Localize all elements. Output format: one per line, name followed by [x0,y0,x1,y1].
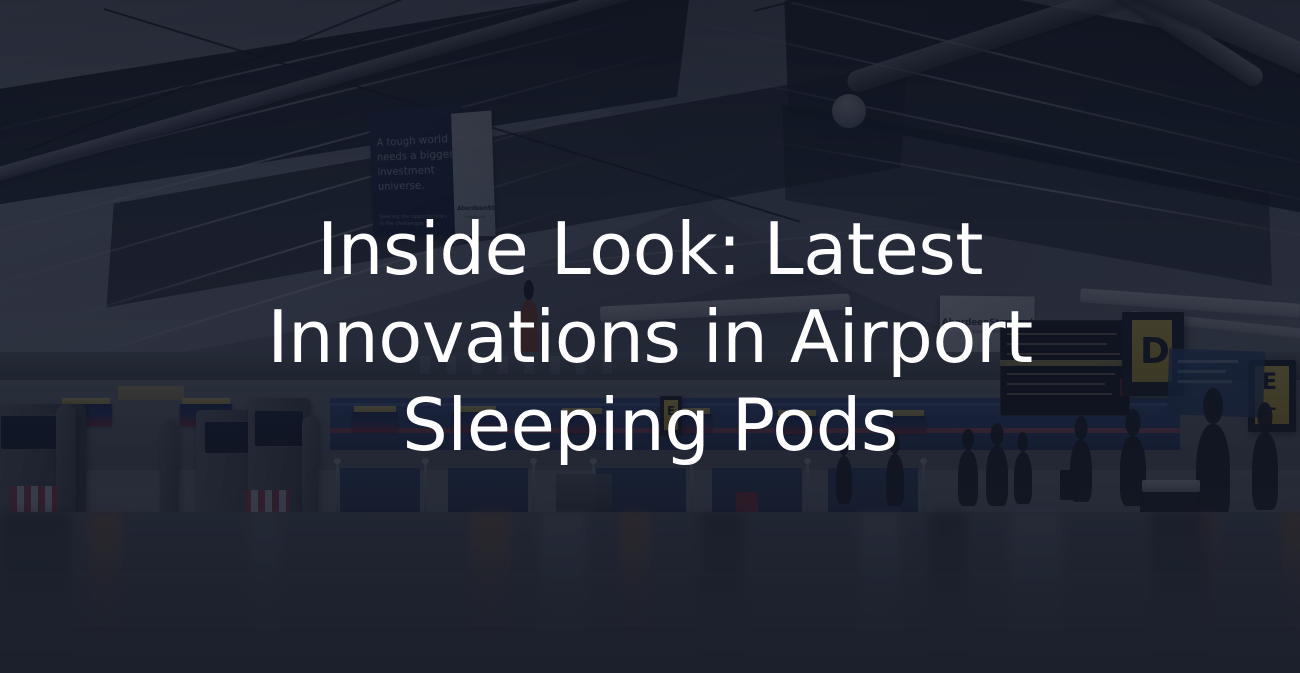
page-title: Inside Look: Latest Innovations in Airpo… [267,205,1033,469]
hero-title-container: Inside Look: Latest Innovations in Airpo… [0,0,1300,673]
hero-banner: A tough world needs a bigger investment … [0,0,1300,673]
